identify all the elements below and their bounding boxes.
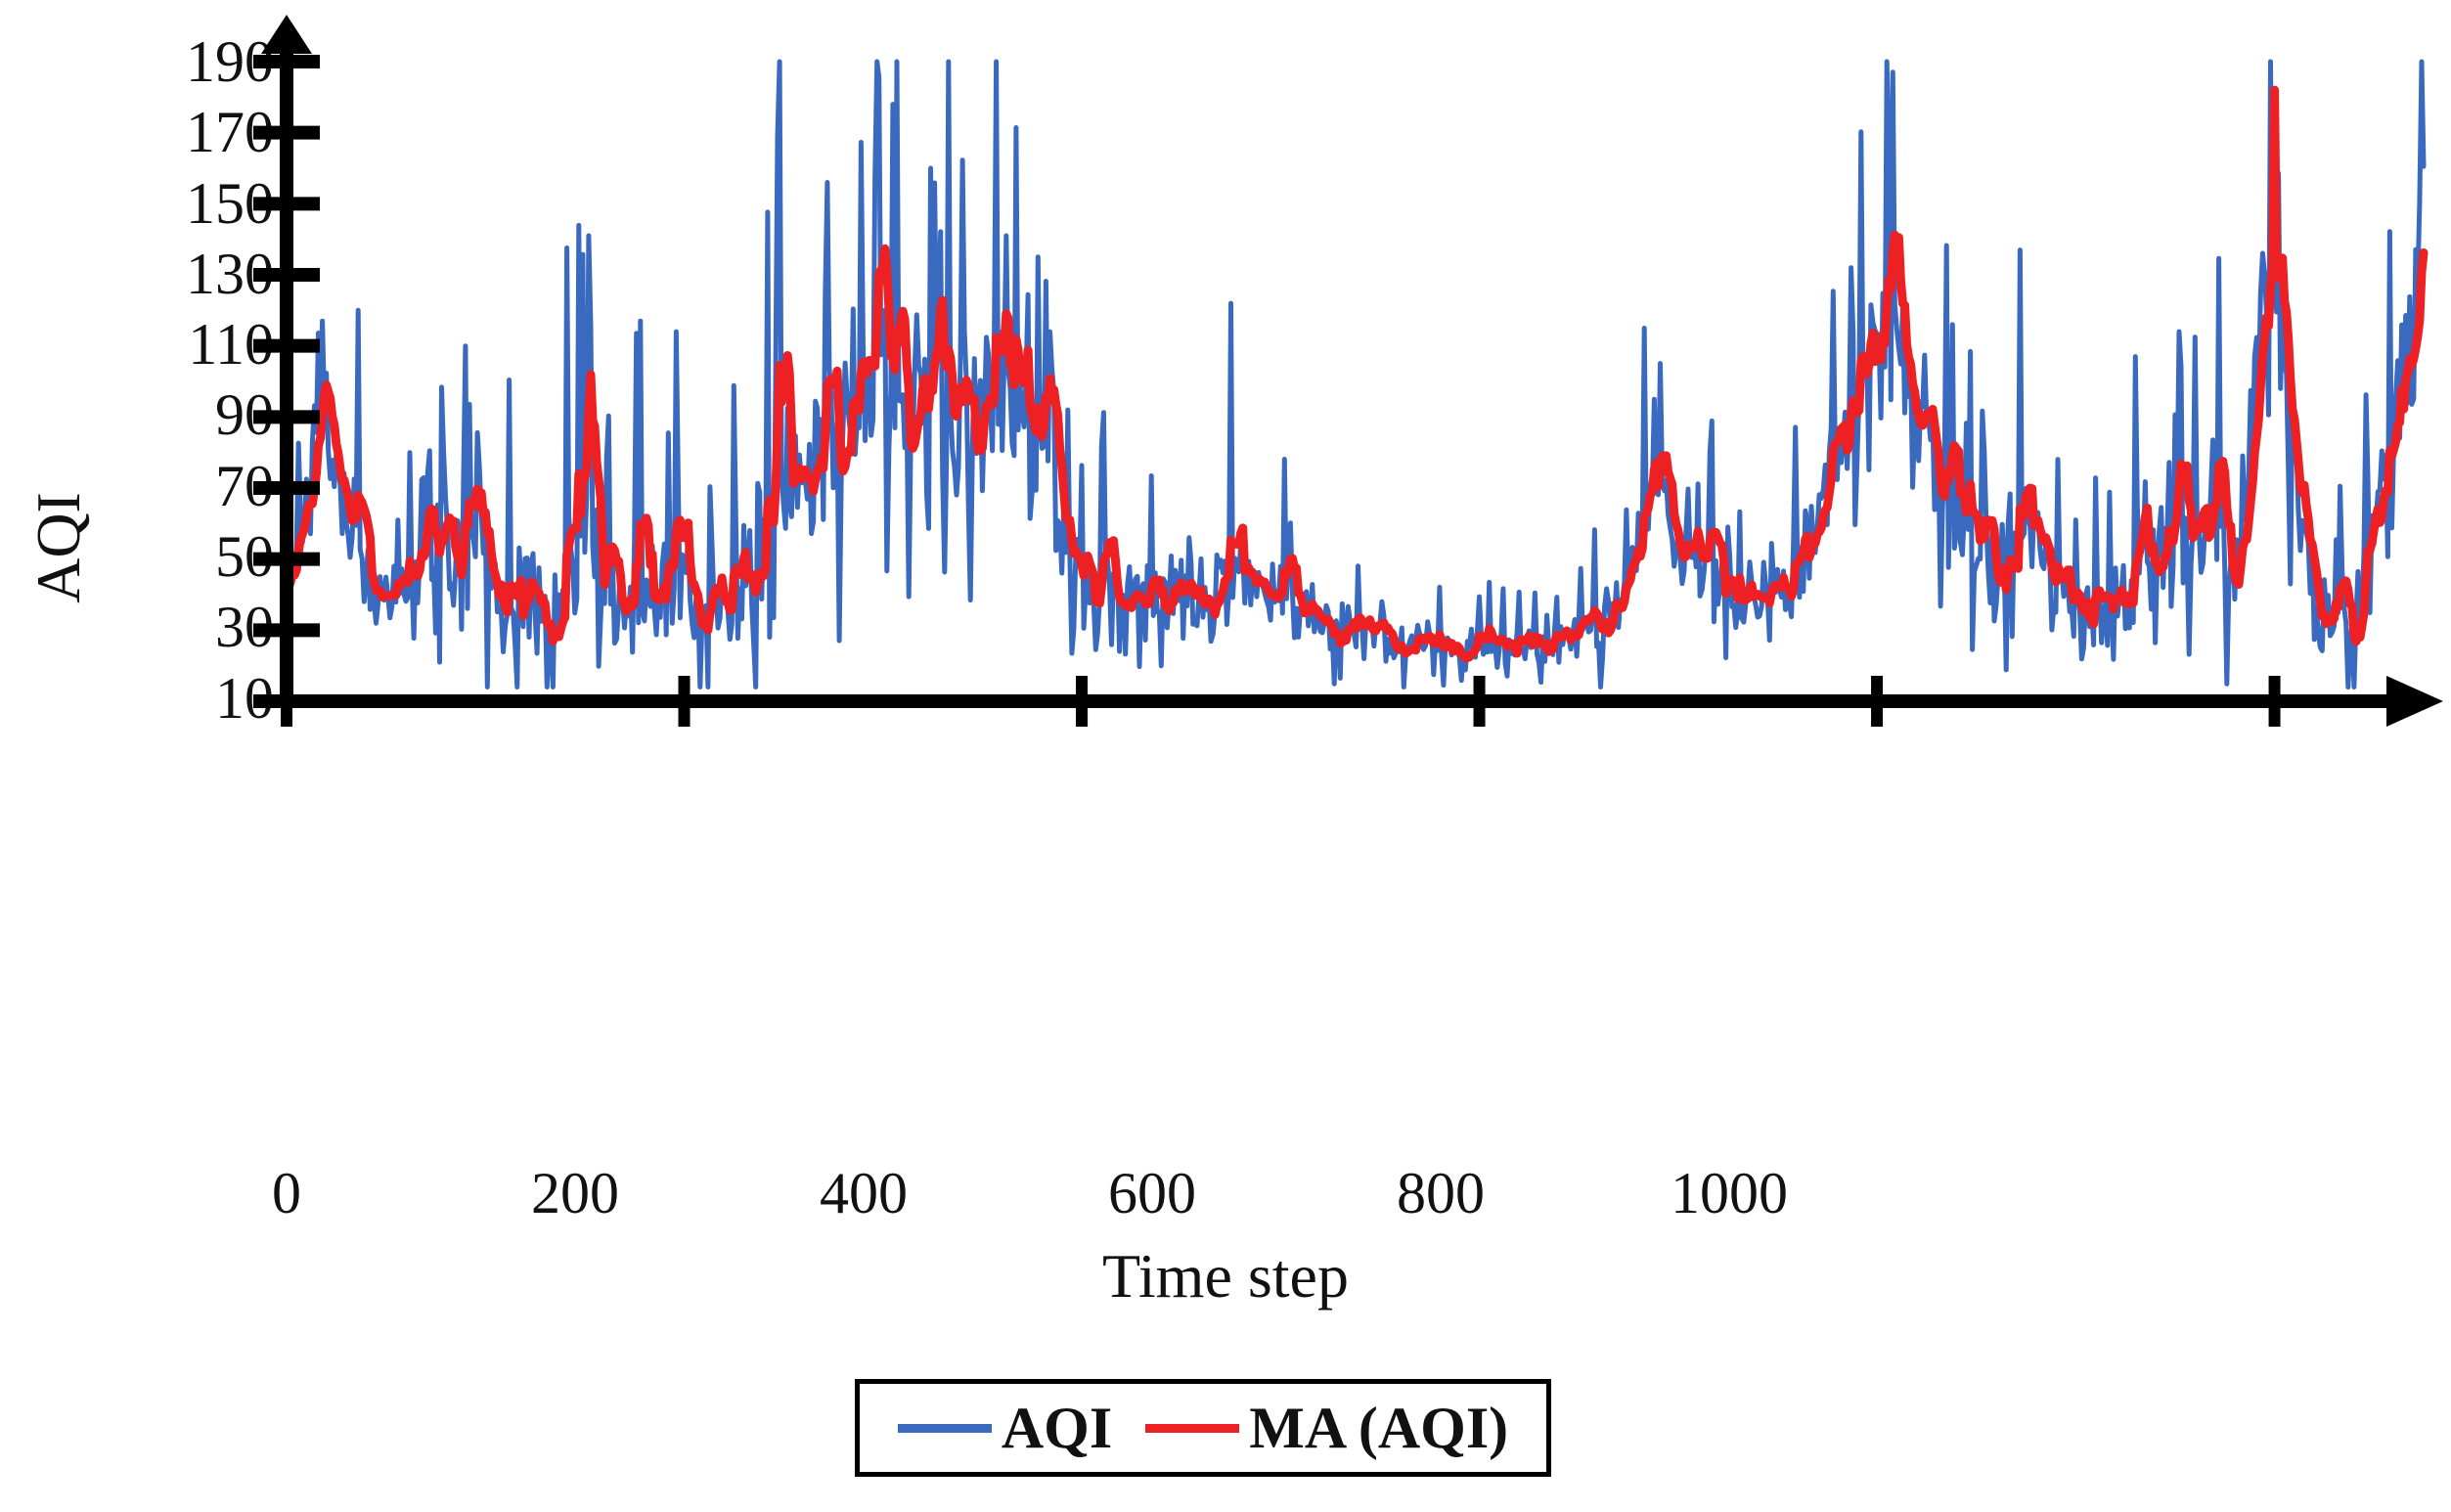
legend-item-aqi[interactable]: AQI xyxy=(898,1399,1112,1457)
legend-label-ma-aqi: MA (AQI) xyxy=(1249,1399,1508,1457)
legend-label-aqi: AQI xyxy=(1002,1399,1112,1457)
x-axis-title: Time step xyxy=(0,1240,2451,1312)
legend-line-swatch-aqi xyxy=(898,1424,992,1433)
chart-figure: AQI 190 170 150 130 110 90 70 50 30 10 0… xyxy=(0,0,2451,1512)
chart-legend: AQI MA (AQI) xyxy=(855,1379,1551,1477)
series-ma-aqi xyxy=(287,90,2424,658)
legend-item-ma-aqi[interactable]: MA (AQI) xyxy=(1145,1399,1508,1457)
legend-line-swatch-ma-aqi xyxy=(1145,1424,1239,1433)
